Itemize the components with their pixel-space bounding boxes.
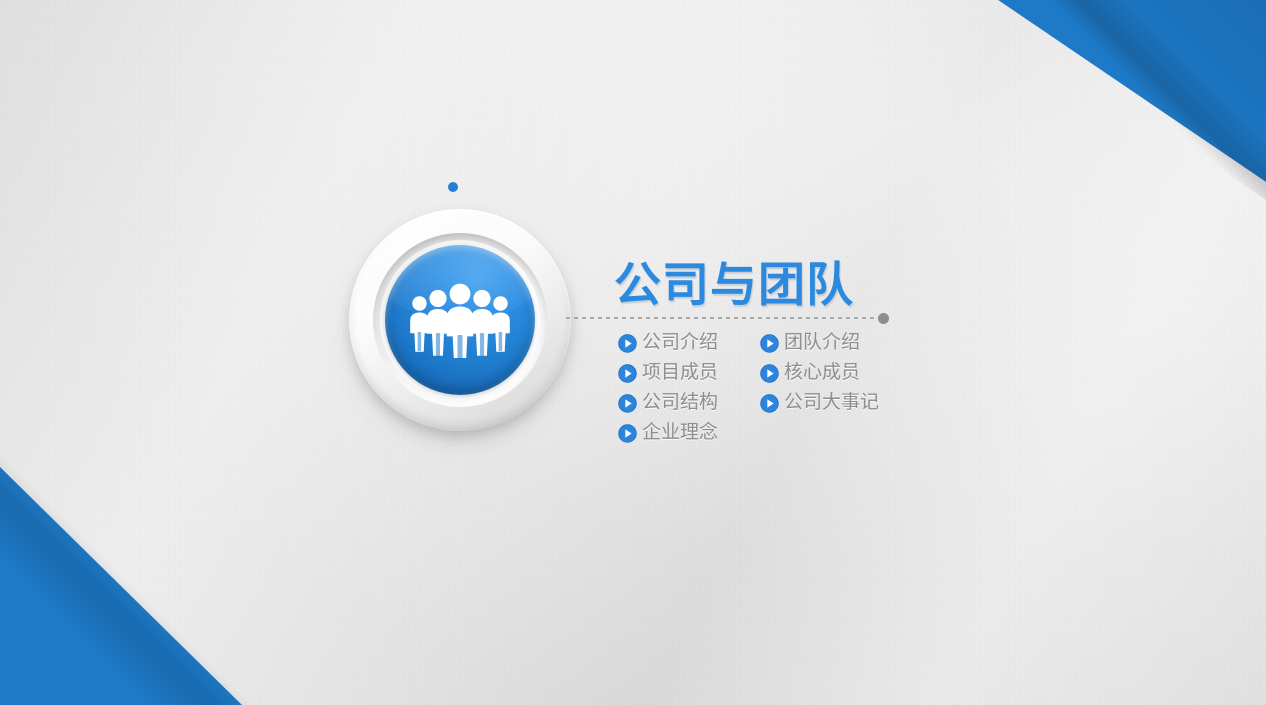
agenda-column-right: 团队介绍 核心成员 公司大事记 [760, 332, 902, 444]
list-item[interactable]: 项目成员 [618, 362, 760, 384]
accent-dot [448, 182, 458, 192]
play-circle-icon [760, 364, 779, 383]
connector-end-dot [878, 313, 889, 324]
list-item-label: 公司结构 [642, 392, 718, 414]
bottom-left-blue-triangle [0, 467, 242, 705]
play-circle-icon [618, 424, 637, 443]
list-item[interactable]: 核心成员 [760, 362, 902, 384]
presentation-slide: 公司与团队 公司介绍 项目成员 [0, 0, 1266, 705]
emblem-blue-disc [385, 245, 535, 395]
agenda-column-left: 公司介绍 项目成员 公司结构 [618, 332, 760, 444]
list-item[interactable]: 团队介绍 [760, 332, 902, 354]
list-item-label: 团队介绍 [784, 332, 860, 354]
play-circle-icon [760, 394, 779, 413]
page-title: 公司与团队 [614, 261, 854, 308]
dashed-connector-line [566, 317, 880, 319]
list-item[interactable]: 公司介绍 [618, 332, 760, 354]
play-circle-icon [760, 334, 779, 353]
agenda-list: 公司介绍 项目成员 公司结构 [618, 332, 902, 444]
list-item-label: 企业理念 [642, 422, 718, 444]
list-item-label: 公司介绍 [642, 332, 718, 354]
list-item-label: 公司大事记 [784, 392, 879, 414]
list-item[interactable]: 公司大事记 [760, 392, 902, 414]
list-item[interactable]: 公司结构 [618, 392, 760, 414]
play-circle-icon [618, 394, 637, 413]
list-item[interactable]: 企业理念 [618, 422, 760, 444]
emblem [349, 209, 571, 431]
list-item-label: 核心成员 [784, 362, 860, 384]
bottom-left-triangle-fill [0, 467, 242, 705]
play-circle-icon [618, 364, 637, 383]
play-circle-icon [618, 334, 637, 353]
list-item-label: 项目成员 [642, 362, 718, 384]
group-of-people-icon [406, 282, 514, 358]
